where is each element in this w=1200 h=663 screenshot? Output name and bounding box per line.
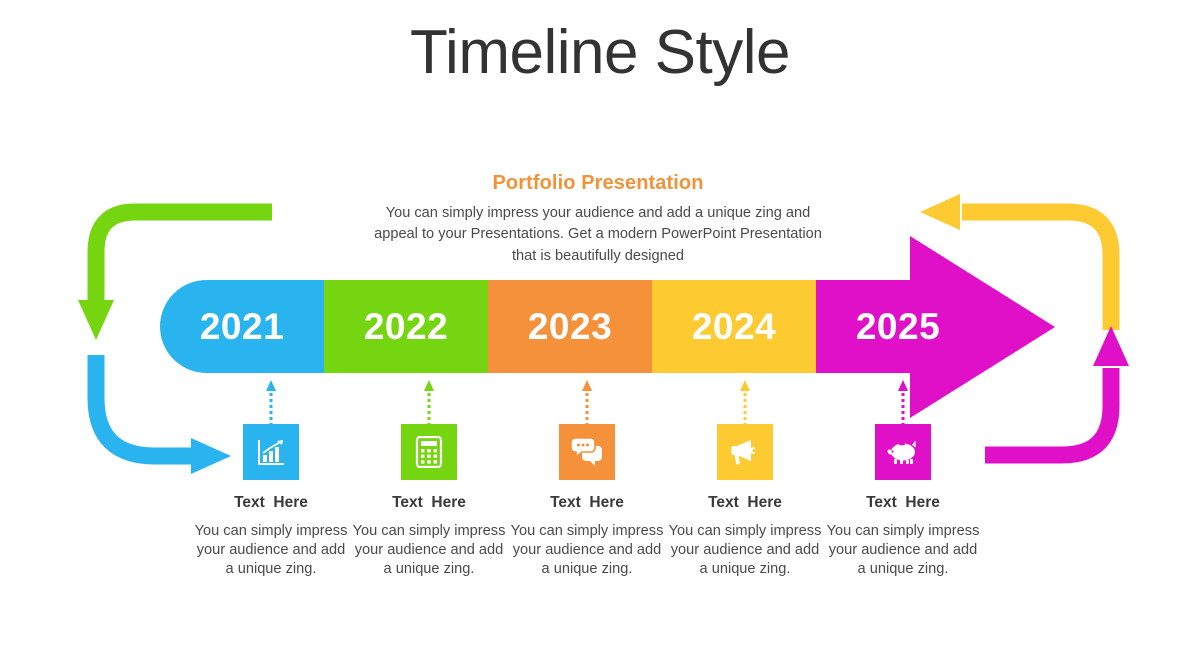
timeline-bar: 2021 2022 2023 2024 2025 — [160, 280, 980, 373]
connector-arrow-2022 — [423, 378, 435, 426]
timeline-segment-2023[interactable]: 2023 — [488, 280, 652, 373]
intro-body-text: You can simply impress your audience and… — [370, 203, 826, 267]
connector-arrow-2025 — [897, 378, 909, 426]
timeline-segment-2024[interactable]: 2024 — [652, 280, 816, 373]
icon-tile-2025[interactable] — [875, 424, 931, 480]
column-2024: Text Here You can simply impress your au… — [666, 494, 824, 579]
icon-tile-2023[interactable] — [559, 424, 615, 480]
year-label: 2022 — [364, 306, 448, 348]
column-description: You can simply impress your audience and… — [192, 522, 350, 579]
column-description: You can simply impress your audience and… — [350, 522, 508, 579]
column-title: Text Here — [666, 494, 824, 512]
column-2025: Text Here You can simply impress your au… — [824, 494, 982, 579]
chat-bubbles-icon — [570, 437, 604, 467]
timeline-segment-2022[interactable]: 2022 — [324, 280, 488, 373]
timeline-segment-2021[interactable]: 2021 — [160, 280, 324, 373]
connector-arrow-2021 — [265, 378, 277, 426]
icon-tile-2022[interactable] — [401, 424, 457, 480]
connector-arrow-2024 — [739, 378, 751, 426]
column-title: Text Here — [192, 494, 350, 512]
column-2022: Text Here You can simply impress your au… — [350, 494, 508, 579]
column-title: Text Here — [824, 494, 982, 512]
column-description: You can simply impress your audience and… — [824, 522, 982, 579]
icon-tile-2024[interactable] — [717, 424, 773, 480]
timeline-segment-2025[interactable]: 2025 — [816, 280, 980, 373]
intro-block: Portfolio Presentation You can simply im… — [370, 172, 826, 267]
icon-tile-2021[interactable] — [243, 424, 299, 480]
column-title: Text Here — [350, 494, 508, 512]
column-description: You can simply impress your audience and… — [508, 522, 666, 579]
page-title: Timeline Style — [0, 16, 1200, 90]
column-title: Text Here — [508, 494, 666, 512]
megaphone-icon — [728, 437, 762, 467]
column-2023: Text Here You can simply impress your au… — [508, 494, 666, 579]
year-label: 2024 — [692, 306, 776, 348]
year-label: 2021 — [200, 306, 284, 348]
calculator-icon — [414, 436, 444, 468]
piggy-bank-icon — [886, 438, 920, 466]
column-description: You can simply impress your audience and… — [666, 522, 824, 579]
connector-arrow-2023 — [581, 378, 593, 426]
intro-heading: Portfolio Presentation — [370, 172, 826, 195]
bar-chart-growth-icon — [255, 436, 287, 468]
year-label: 2025 — [856, 306, 940, 348]
column-2021: Text Here You can simply impress your au… — [192, 494, 350, 579]
year-label: 2023 — [528, 306, 612, 348]
